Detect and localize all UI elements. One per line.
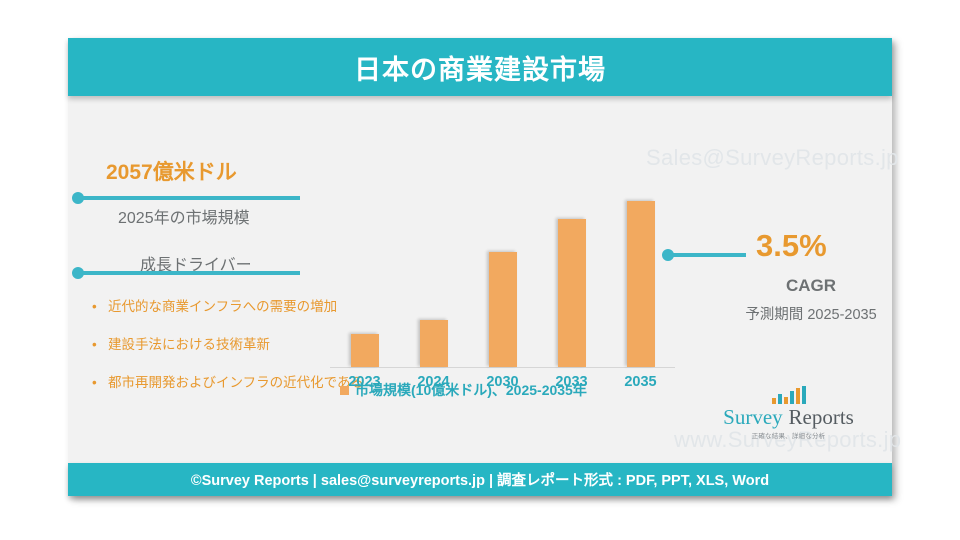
rule-dot-icon xyxy=(72,267,84,279)
bullet-marker-icon: • xyxy=(92,364,97,402)
chart-legend: 市場規模(10億米ドル)、2025-2035年 xyxy=(340,380,587,400)
list-item: • 建設手法における技術革新 xyxy=(88,326,368,364)
logo-word-reports: Reports xyxy=(789,405,854,429)
list-item-label: 近代的な商業インフラへの需要の増加 xyxy=(108,299,337,314)
left-column: 2057億米ドル 2025年の市場規模 成長ドライバー • 近代的な商業インフラ… xyxy=(78,108,368,458)
rule-dot-icon xyxy=(662,249,674,261)
logo-wordmark: Survey Reports xyxy=(696,406,881,429)
legend-swatch-icon xyxy=(340,386,349,395)
infographic-root: 日本の商業建設市場 Sales@SurveyReports.jp www.Sur… xyxy=(0,0,960,540)
footer-banner: ©Survey Reports | sales@surveyreports.jp… xyxy=(68,463,892,496)
divider-rule-top xyxy=(78,196,300,200)
cagr-label: CAGR xyxy=(756,276,866,296)
list-item: • 近代的な商業インフラへの需要の増加 xyxy=(88,288,368,326)
chart-x-tick-label: 2035 xyxy=(606,374,675,390)
watermark-top: Sales@SurveyReports.jp xyxy=(646,145,899,171)
chart-bar-group xyxy=(330,98,399,367)
chart-bar-group xyxy=(537,98,606,367)
chart-bar-group xyxy=(468,98,537,367)
cagr-forecast-period: 予測期間 2025-2035 xyxy=(716,303,906,324)
logo-word-survey: Survey xyxy=(723,405,783,429)
chart-bar xyxy=(420,320,448,367)
market-size-caption: 2025年の市場規模 xyxy=(118,204,250,228)
rule-dot-icon xyxy=(72,192,84,204)
chart-plot-area xyxy=(330,98,675,368)
chart-bar xyxy=(558,219,586,367)
footer-text: ©Survey Reports | sales@surveyreports.jp… xyxy=(191,469,769,490)
list-item-label: 建設手法における技術革新 xyxy=(108,337,270,352)
market-size-bar-chart: 20232024203020332035 xyxy=(330,98,675,398)
bullet-marker-icon: • xyxy=(92,288,97,326)
market-size-value: 2057億米ドル xyxy=(106,156,237,186)
chart-bar xyxy=(627,201,655,367)
chart-bar-group xyxy=(606,98,675,367)
legend-label: 市場規模(10億米ドル)、2025-2035年 xyxy=(355,380,587,400)
chart-x-axis xyxy=(330,367,675,368)
cagr-rule xyxy=(668,253,746,257)
bar-chart-icon xyxy=(696,386,881,404)
chart-bar xyxy=(351,334,379,367)
page-title: 日本の商業建設市場 xyxy=(354,48,606,87)
chart-bar xyxy=(489,252,517,367)
list-item-label: 都市再開発およびインフラの近代化である xyxy=(108,375,364,390)
logo-tagline: 正確な結果、詳細な分析 xyxy=(696,430,881,440)
survey-reports-logo: Survey Reports 正確な結果、詳細な分析 xyxy=(696,386,881,448)
cagr-block: 3.5% CAGR 予測期間 2025-2035 xyxy=(668,198,888,328)
cagr-value: 3.5% xyxy=(756,228,827,264)
content-card: 日本の商業建設市場 Sales@SurveyReports.jp www.Sur… xyxy=(68,38,892,496)
chart-bar-group xyxy=(399,98,468,367)
growth-drivers-list: • 近代的な商業インフラへの需要の増加 • 建設手法における技術革新 • 都市再… xyxy=(88,288,368,402)
header-banner: 日本の商業建設市場 xyxy=(68,38,892,96)
divider-rule-bottom xyxy=(78,271,300,275)
bullet-marker-icon: • xyxy=(92,326,97,364)
list-item: • 都市再開発およびインフラの近代化である xyxy=(88,364,368,402)
